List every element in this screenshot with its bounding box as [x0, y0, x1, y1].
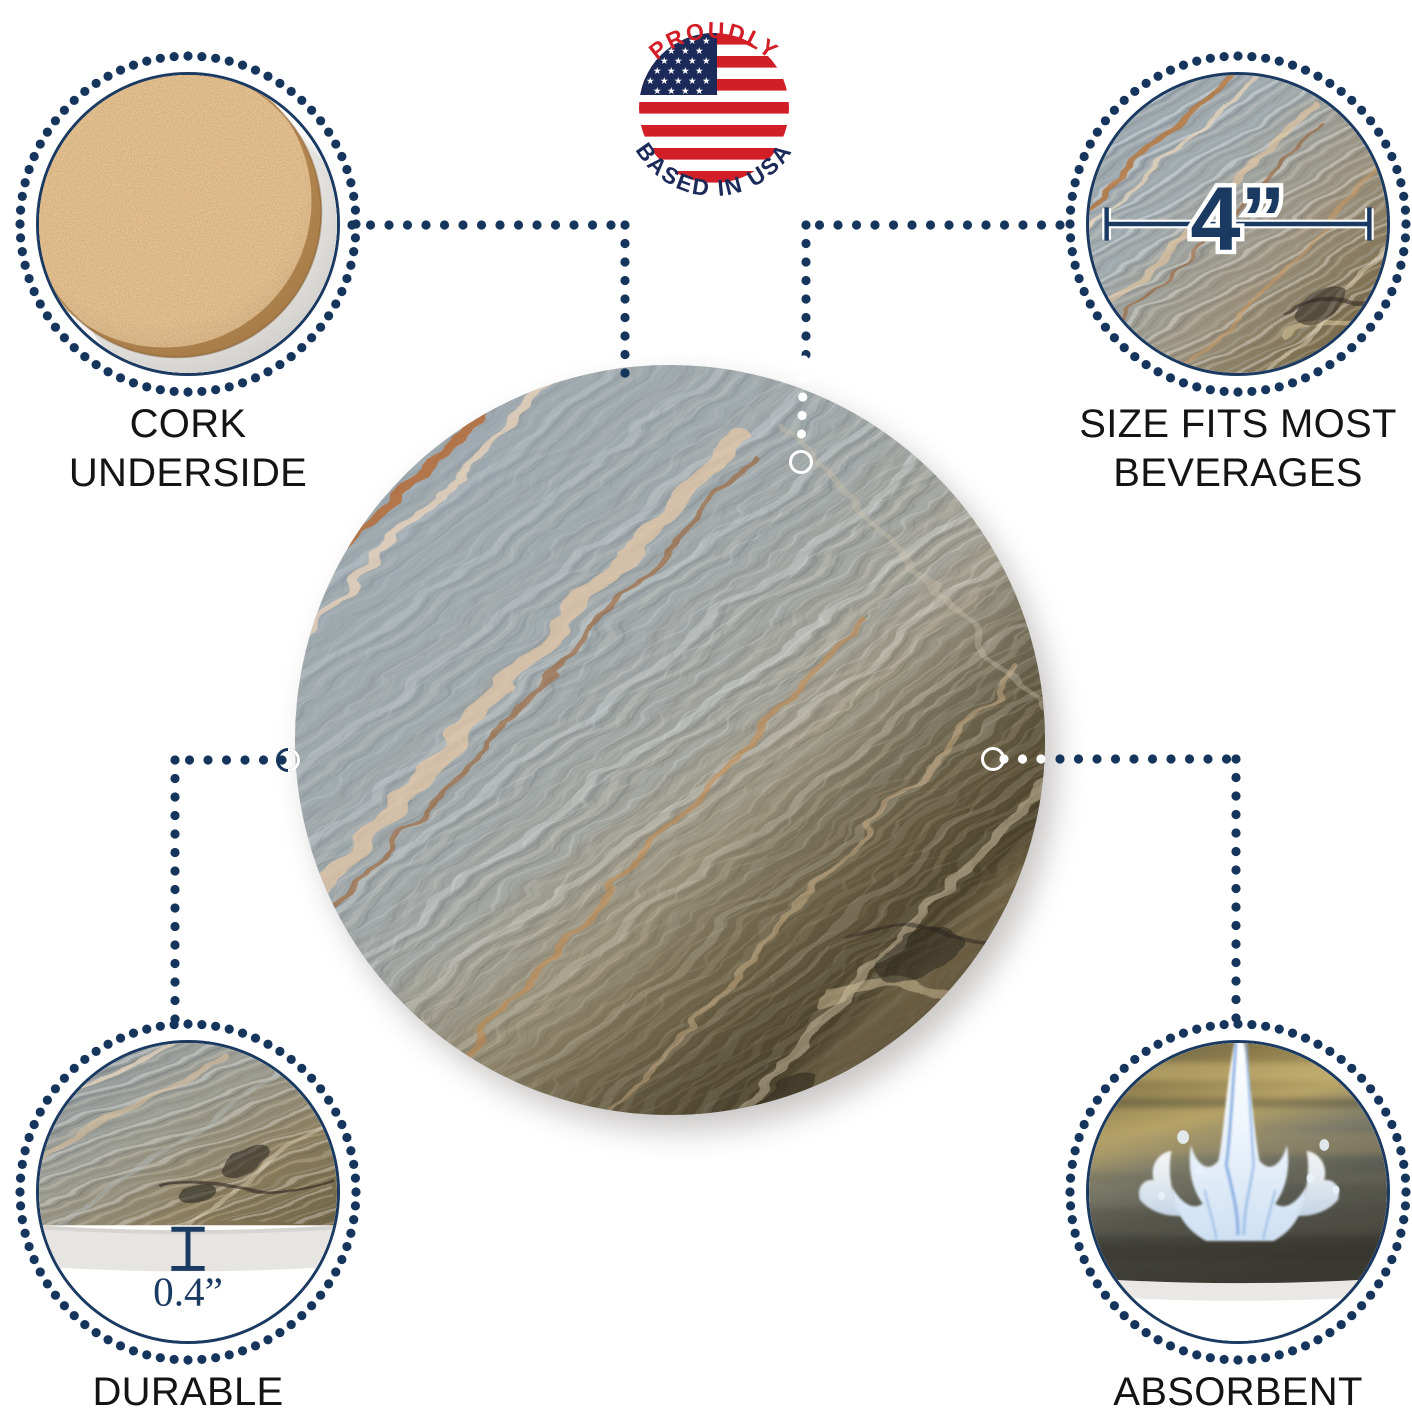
callout-marker-top	[789, 450, 813, 474]
coaster-surface-closeup-image: 4”	[1086, 72, 1390, 376]
svg-text:★: ★	[653, 86, 662, 97]
feature-size-fits-most-beverages: 4” SIZE FITS MOST BEVERAGES	[1062, 48, 1412, 508]
connector-size	[801, 220, 1064, 359]
coaster-edge-profile-image: 0.4”	[36, 1040, 340, 1344]
feature-absorbent: ABSORBENT	[1062, 1016, 1412, 1421]
proudly-based-in-usa-badge: ★★★ ★★ ★★★ ★ ★★★ ★★ ★★★ ★ ★★★ ★★ ★★★ ★ P…	[608, 2, 820, 214]
cork-underside-image	[36, 72, 340, 376]
connector-durable	[170, 755, 286, 1023]
svg-text:★: ★	[681, 86, 690, 97]
connector-cork-underside	[347, 220, 629, 377]
feature-label-absorbent: ABSORBENT	[1052, 1368, 1412, 1417]
callout-marker-right	[981, 747, 1005, 771]
feature-cork-underside: CORK UNDERSIDE	[12, 48, 364, 508]
feature-label-cork-underside: CORK UNDERSIDE	[2, 400, 374, 498]
feature-label-size: SIZE FITS MOST BEVERAGES	[1042, 400, 1412, 498]
dimension-0-4-inch-text: 0.4”	[153, 1269, 223, 1315]
water-splash-image	[1086, 1040, 1390, 1344]
feature-label-durable: DURABLE	[2, 1368, 374, 1417]
connector-absorbent	[1055, 754, 1240, 1022]
feature-durable: 0.4” DURABLE	[12, 1016, 364, 1421]
dimension-0-4-inch-overlay: 0.4”	[39, 1043, 337, 1341]
svg-text:★: ★	[695, 86, 704, 97]
svg-text:★: ★	[667, 86, 676, 97]
